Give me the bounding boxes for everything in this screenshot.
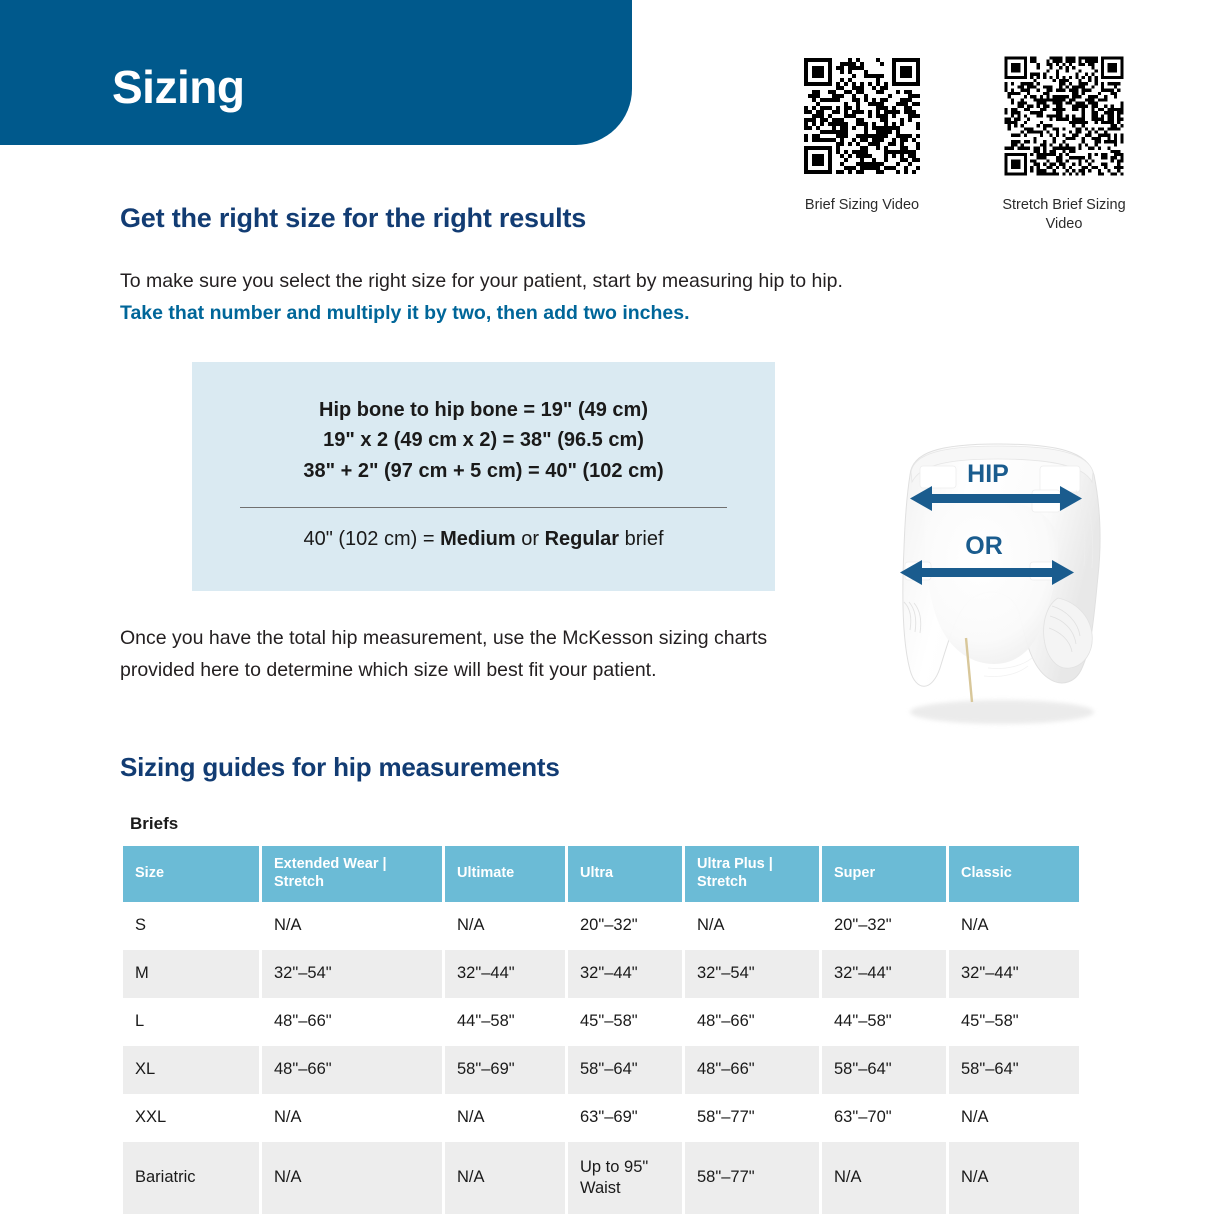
qr-code-icon[interactable] xyxy=(998,50,1130,182)
table-cell-size: XL xyxy=(123,1046,259,1094)
table-cell-value: 58"–77" xyxy=(685,1094,819,1142)
or-label: OR xyxy=(965,532,1003,560)
table-col-header-1: Extended Wear |Stretch xyxy=(262,846,442,902)
calculation-example-box: Hip bone to hip bone = 19" (49 cm) 19" x… xyxy=(192,362,775,591)
table-cell-value: 20"–32" xyxy=(568,902,682,950)
table-cell-value: 44"–58" xyxy=(822,998,946,1046)
calc-result-prefix: 40" (102 cm) = xyxy=(303,528,440,550)
table-cell-value: 63"–70" xyxy=(822,1094,946,1142)
hip-label: HIP xyxy=(967,460,1009,488)
qr-code-icon[interactable] xyxy=(796,50,928,182)
table-row: SN/AN/A20"–32"N/A20"–32"N/A xyxy=(123,902,1079,950)
calc-result-mid: or xyxy=(516,528,545,550)
table-cell-value: N/A xyxy=(445,1142,565,1214)
table-cell-value: 32"–44" xyxy=(822,950,946,998)
calc-result-suffix: brief xyxy=(619,528,663,550)
header-bar xyxy=(0,0,632,145)
table-cell-value: N/A xyxy=(445,902,565,950)
calc-result-size-medium: Medium xyxy=(440,528,516,550)
sizing-table: SizeExtended Wear |StretchUltimateUltraU… xyxy=(120,846,1082,1214)
table-cell-value: 58"–69" xyxy=(445,1046,565,1094)
table-cell-value: 32"–54" xyxy=(262,950,442,998)
table-row: XXLN/AN/A63"–69"58"–77"63"–70"N/A xyxy=(123,1094,1079,1142)
table-cell-value: 63"–69" xyxy=(568,1094,682,1142)
table-row: BariatricN/AN/AUp to 95"Waist58"–77"N/AN… xyxy=(123,1142,1079,1214)
calc-line-2: 19" x 2 (49 cm x 2) = 38" (96.5 cm) xyxy=(323,425,644,455)
table-cell-size: M xyxy=(123,950,259,998)
qr-code-group: Brief Sizing Video Stretch Brief Sizing … xyxy=(795,50,1131,233)
table-cell-size: L xyxy=(123,998,259,1046)
table-cell-value: 48"–66" xyxy=(262,1046,442,1094)
table-cell-value: Up to 95"Waist xyxy=(568,1142,682,1214)
calc-result-size-regular: Regular xyxy=(545,528,619,550)
table-cell-value: 58"–77" xyxy=(685,1142,819,1214)
calc-result: 40" (102 cm) = Medium or Regular brief xyxy=(303,528,663,551)
intro-paragraph: To make sure you select the right size f… xyxy=(120,266,882,329)
table-cell-value: 45"–58" xyxy=(949,998,1079,1046)
table-cell-value: N/A xyxy=(262,902,442,950)
calc-line-1: Hip bone to hip bone = 19" (49 cm) xyxy=(319,395,648,425)
qr-item-stretch-brief-sizing-video[interactable]: Stretch Brief Sizing Video xyxy=(997,50,1131,233)
table-col-header-6: Classic xyxy=(949,846,1079,902)
table-col-header-4: Ultra Plus |Stretch xyxy=(685,846,819,902)
table-cell-size: Bariatric xyxy=(123,1142,259,1214)
qr-caption: Stretch Brief Sizing Video xyxy=(984,196,1144,233)
table-cell-value: N/A xyxy=(822,1142,946,1214)
page-title: Sizing xyxy=(112,60,244,114)
table-cell-size: XXL xyxy=(123,1094,259,1142)
table-cell-value: N/A xyxy=(262,1094,442,1142)
table-cell-value: N/A xyxy=(445,1094,565,1142)
section-heading-sizing-guides: Sizing guides for hip measurements xyxy=(120,752,560,783)
sizing-page: Sizing Brief Sizing Video Stretch Brief … xyxy=(0,0,1214,1214)
outro-paragraph: Once you have the total hip measurement,… xyxy=(120,623,820,686)
table-cell-value: N/A xyxy=(949,1142,1079,1214)
product-illustration: HIP OR xyxy=(880,420,1150,730)
table-cell-value: 32"–44" xyxy=(568,950,682,998)
table-cell-value: 58"–64" xyxy=(568,1046,682,1094)
table-cell-value: 44"–58" xyxy=(445,998,565,1046)
table-row: XL48"–66"58"–69"58"–64"48"–66"58"–64"58"… xyxy=(123,1046,1079,1094)
table-cell-value: 20"–32" xyxy=(822,902,946,950)
table-cell-value: 48"–66" xyxy=(685,998,819,1046)
section-heading-get-right-size: Get the right size for the right results xyxy=(120,203,586,234)
table-cell-value: 48"–66" xyxy=(262,998,442,1046)
table-cell-value: 32"–44" xyxy=(949,950,1079,998)
table-cell-value: 58"–64" xyxy=(822,1046,946,1094)
calc-divider xyxy=(240,507,727,508)
qr-item-brief-sizing-video[interactable]: Brief Sizing Video xyxy=(795,50,929,233)
table-cell-value: 45"–58" xyxy=(568,998,682,1046)
table-label-briefs: Briefs xyxy=(130,814,178,834)
table-col-header-2: Ultimate xyxy=(445,846,565,902)
intro-text-plain: To make sure you select the right size f… xyxy=(120,270,843,292)
brief-product-image: HIP OR xyxy=(880,420,1150,730)
table-col-header-3: Ultra xyxy=(568,846,682,902)
table-cell-value: N/A xyxy=(262,1142,442,1214)
table-cell-value: 32"–44" xyxy=(445,950,565,998)
calc-line-3: 38" + 2" (97 cm + 5 cm) = 40" (102 cm) xyxy=(303,456,663,486)
table-header-row: SizeExtended Wear |StretchUltimateUltraU… xyxy=(123,846,1079,902)
sizing-table-wrapper: SizeExtended Wear |StretchUltimateUltraU… xyxy=(120,846,1070,1214)
table-cell-value: 58"–64" xyxy=(949,1046,1079,1094)
table-cell-value: 48"–66" xyxy=(685,1046,819,1094)
table-cell-size: S xyxy=(123,902,259,950)
table-row: L48"–66"44"–58"45"–58"48"–66"44"–58"45"–… xyxy=(123,998,1079,1046)
table-cell-value: N/A xyxy=(685,902,819,950)
table-col-header-5: Super xyxy=(822,846,946,902)
table-row: M32"–54"32"–44"32"–44"32"–54"32"–44"32"–… xyxy=(123,950,1079,998)
qr-caption: Brief Sizing Video xyxy=(777,196,947,215)
table-cell-value: N/A xyxy=(949,1094,1079,1142)
table-cell-value: 32"–54" xyxy=(685,950,819,998)
intro-text-emphasis: Take that number and multiply it by two,… xyxy=(120,302,690,324)
table-col-header-0: Size xyxy=(123,846,259,902)
table-cell-value: N/A xyxy=(949,902,1079,950)
